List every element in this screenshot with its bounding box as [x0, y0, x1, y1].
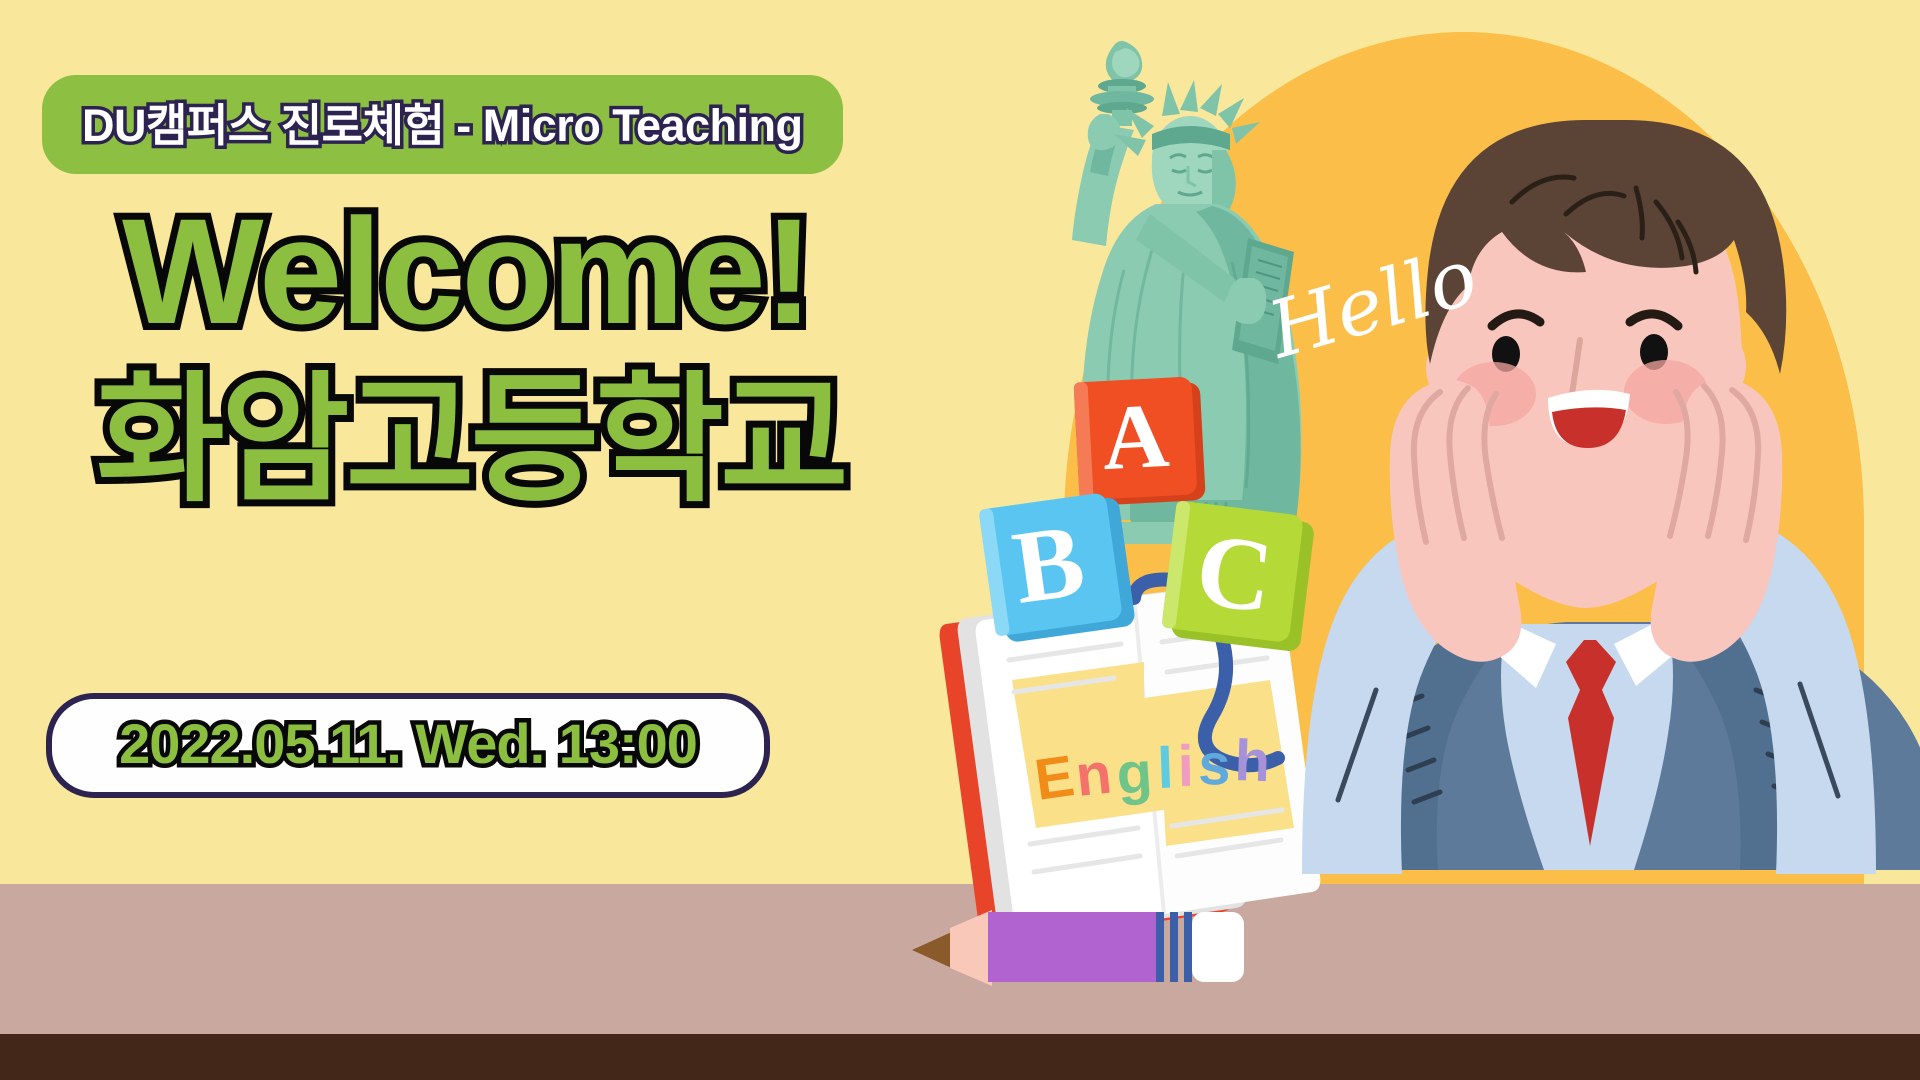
svg-text:l: l	[1156, 735, 1174, 801]
smiling-student-icon	[1302, 120, 1920, 874]
svg-text:s: s	[1198, 732, 1231, 798]
pencil-icon	[912, 910, 1244, 986]
svg-text:g: g	[1114, 740, 1154, 807]
hello-script-text: Hello	[1268, 268, 1458, 388]
welcome-title: Welcome!	[122, 196, 812, 346]
block-c: C	[1160, 500, 1316, 652]
program-ribbon-label: DU캠퍼스 진로체험 - Micro Teaching	[82, 89, 803, 154]
svg-text:A: A	[1100, 384, 1172, 489]
poster-root: E n g l i s h A B C	[0, 0, 1920, 1080]
date-time-pill: 2022.05.11. Wed. 13:00	[46, 693, 770, 798]
block-b: B	[978, 490, 1136, 644]
program-ribbon: DU캠퍼스 진로체험 - Micro Teaching	[42, 75, 843, 174]
school-name-title: 화암고등학교	[96, 370, 845, 510]
svg-text:C: C	[1190, 512, 1279, 635]
svg-text:n: n	[1073, 741, 1115, 809]
svg-text:h: h	[1234, 728, 1272, 794]
svg-text:i: i	[1177, 734, 1194, 799]
block-a: A	[1074, 376, 1206, 506]
date-time-label: 2022.05.11. Wed. 13:00	[119, 711, 697, 776]
